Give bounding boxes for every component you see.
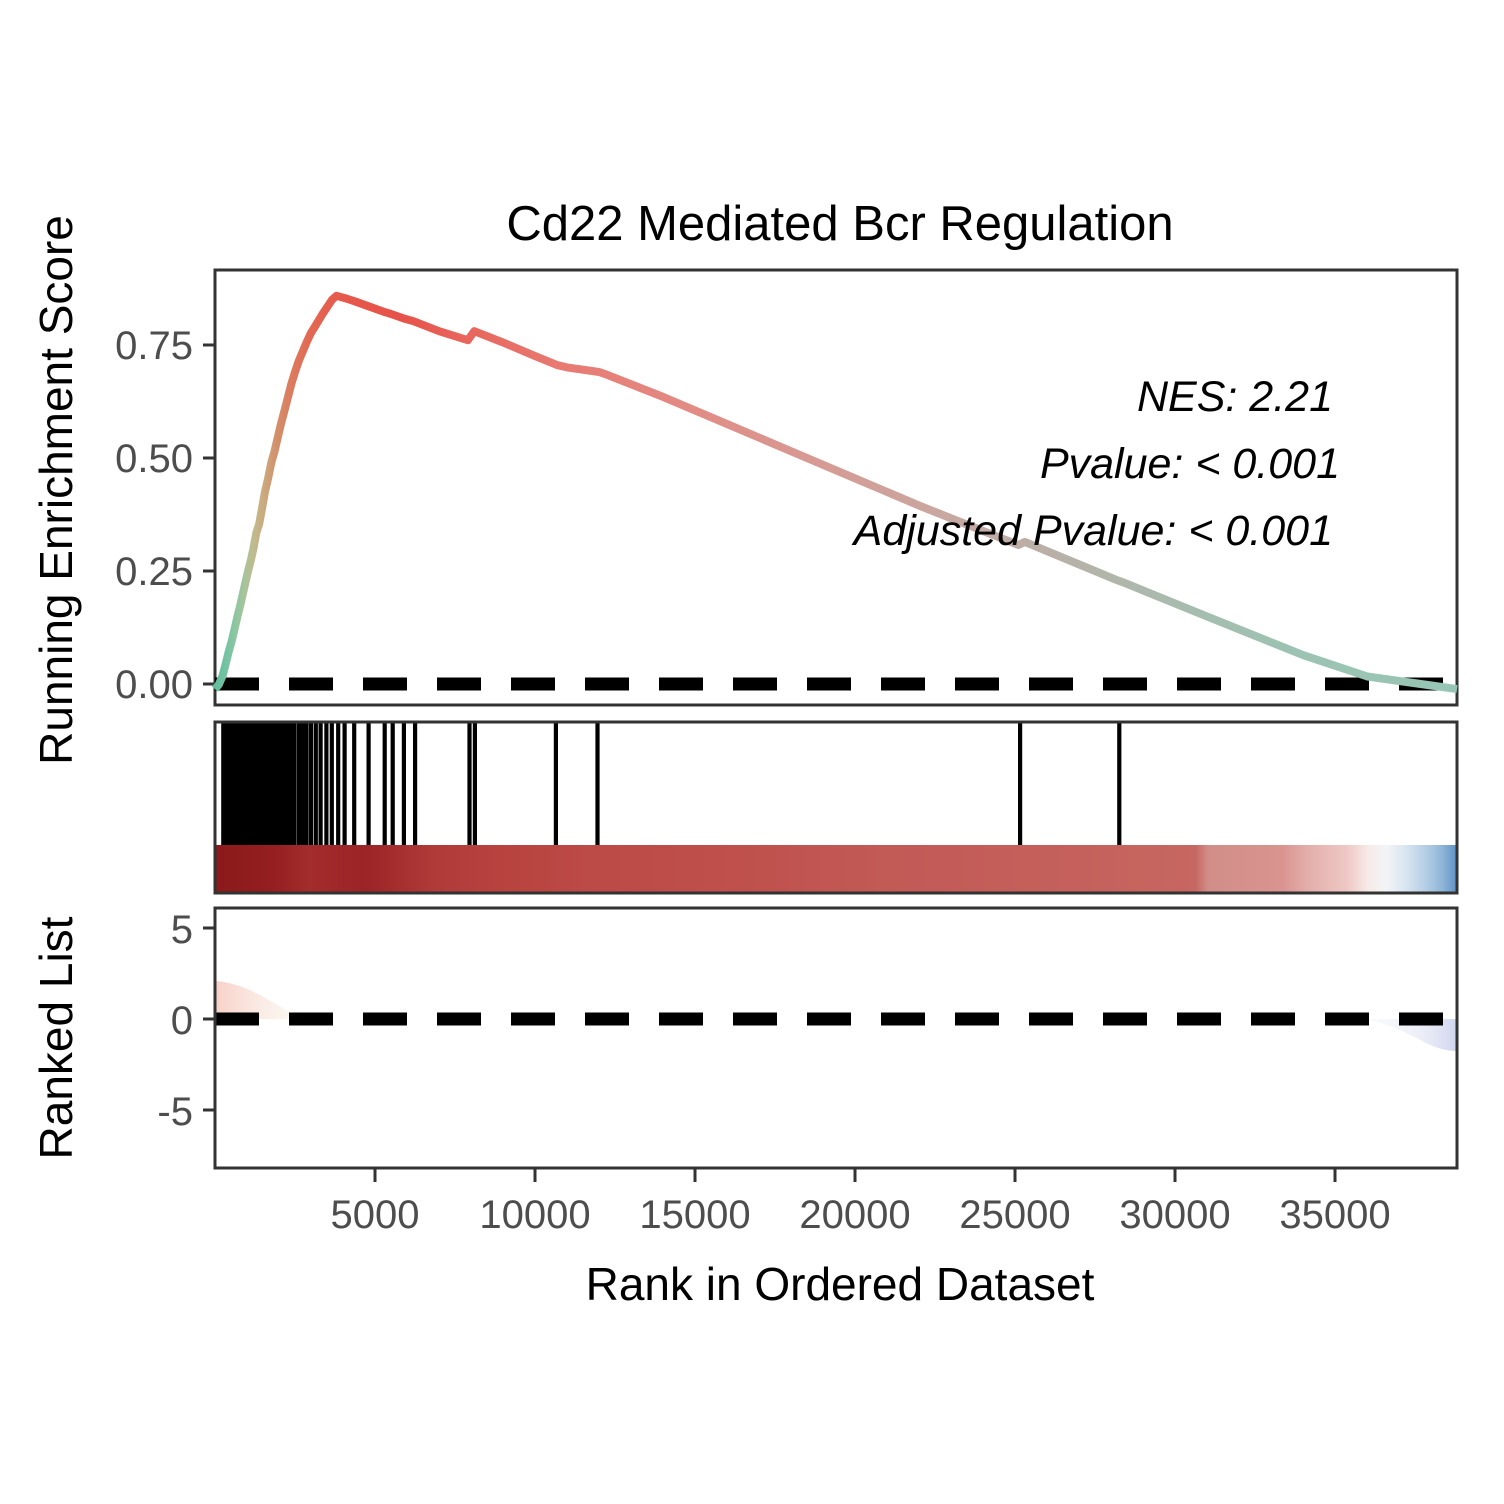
panel-ranked-list: 5 0 -5 [157,908,1457,1168]
x-tick-label-4: 25000 [959,1193,1070,1237]
figure-canvas: Cd22 Mediated Bcr Regulation 0.00 0.25 0… [0,0,1504,1504]
y3-tick-label-0: 0 [171,999,193,1043]
page-title: Cd22 Mediated Bcr Regulation [506,197,1173,251]
x-tick-label-3: 20000 [799,1193,910,1237]
y-tick-label-0: 0.00 [115,663,193,707]
x-tick-label-5: 30000 [1119,1193,1230,1237]
adjusted-pvalue-annotation: Adjusted Pvalue: < 0.001 [851,507,1333,555]
y3-tick-label-neg5: -5 [157,1090,193,1134]
y-tick-label-2: 0.50 [115,437,193,481]
x-axis-title: Rank in Ordered Dataset [586,1258,1095,1310]
nes-annotation: NES: 2.21 [1137,373,1333,421]
panel3-y-axis-title: Ranked List [30,916,82,1159]
rank-metric-color-strip [216,845,1456,892]
x-tick-label-0: 5000 [331,1193,420,1237]
panel3-background [216,909,1456,1167]
y-tick-label-1: 0.25 [115,550,193,594]
y-tick-label-3: 0.75 [115,324,193,368]
gsea-enrichment-figure: Cd22 Mediated Bcr Regulation 0.00 0.25 0… [0,0,1504,1504]
panel-gene-hits [215,722,1457,893]
x-tick-label-2: 15000 [639,1193,750,1237]
pvalue-annotation: Pvalue: < 0.001 [1040,440,1340,488]
panel1-y-axis-title: Running Enrichment Score [30,215,82,765]
y3-tick-label-5: 5 [171,908,193,952]
x-tick-label-6: 35000 [1279,1193,1390,1237]
x-tick-label-1: 10000 [479,1193,590,1237]
